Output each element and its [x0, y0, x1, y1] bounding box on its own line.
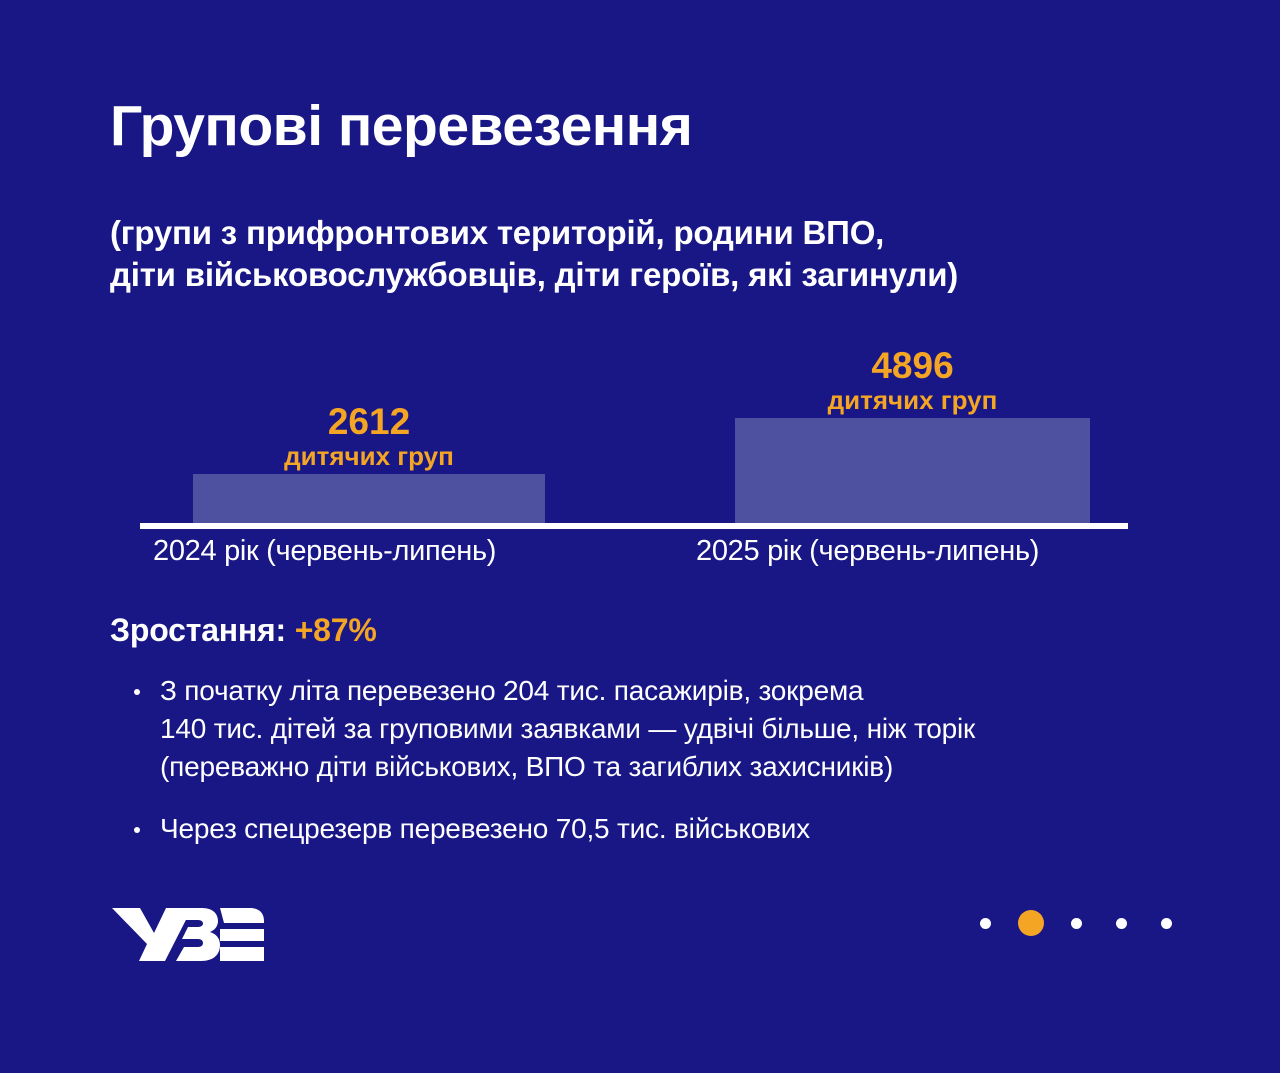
pagination-dot-1[interactable]	[980, 918, 991, 929]
bar-2024	[193, 474, 545, 523]
bullet-list: З початку літа перевезено 204 тис. пасаж…	[130, 672, 1220, 848]
bar-label-2025: 4896 дитячих груп	[695, 347, 1130, 414]
list-item: З початку літа перевезено 204 тис. пасаж…	[130, 672, 1220, 786]
pagination-dot-4[interactable]	[1116, 918, 1127, 929]
growth-label: Зростання:	[110, 612, 286, 648]
uz-logo-icon	[110, 897, 266, 967]
chart-plot-area: 2612 дитячих груп 4896 дитячих груп	[140, 320, 1130, 523]
pagination-dot-2-active[interactable]	[1018, 910, 1044, 936]
bar-value-2025: 4896	[695, 347, 1130, 385]
bullet-2-line-1: Через спецрезерв перевезено 70,5 тис. ві…	[160, 810, 1220, 848]
x-axis-line	[140, 523, 1128, 529]
bullet-1-line-3: (переважно діти військових, ВПО та загиб…	[160, 748, 1220, 786]
bar-group-2025: 4896 дитячих груп	[735, 320, 1090, 523]
pagination-dot-3[interactable]	[1071, 918, 1082, 929]
bar-label-2024: 2612 дитячих груп	[153, 403, 585, 470]
bar-chart: 2612 дитячих груп 4896 дитячих груп 2024…	[140, 320, 1130, 585]
infographic-slide: Групові перевезення (групи з прифронтови…	[0, 0, 1280, 1073]
list-item: Через спецрезерв перевезено 70,5 тис. ві…	[130, 810, 1220, 848]
header-block: Групові перевезення (групи з прифронтови…	[110, 98, 1200, 295]
bar-2025	[735, 418, 1090, 523]
x-axis-labels: 2024 рік (червень-липень) 2025 рік (черв…	[140, 535, 1130, 580]
x-axis-tick-2025: 2025 рік (червень-липень)	[696, 535, 1039, 568]
growth-line: Зростання: +87%	[110, 612, 377, 649]
x-axis-tick-2024: 2024 рік (червень-липень)	[153, 535, 496, 568]
bar-unit-2025: дитячих груп	[695, 385, 1130, 414]
subtitle-line-2: діти військовослужбовців, діти героїв, я…	[110, 254, 1200, 296]
growth-value: +87%	[295, 612, 377, 648]
page-title: Групові перевезення	[110, 98, 1200, 155]
bullet-1-line-2: 140 тис. дітей за груповими заявками — у…	[160, 710, 1220, 748]
page-subtitle: (групи з прифронтових територій, родини …	[110, 155, 1200, 295]
bar-unit-2024: дитячих груп	[153, 441, 585, 470]
pagination-dot-5[interactable]	[1161, 918, 1172, 929]
bullet-1-line-1: З початку літа перевезено 204 тис. пасаж…	[160, 672, 1220, 710]
bar-value-2024: 2612	[153, 403, 585, 441]
pagination-dots[interactable]	[980, 908, 1172, 938]
bullet-dot-icon	[134, 689, 140, 695]
subtitle-line-1: (групи з прифронтових територій, родини …	[110, 212, 1200, 254]
bar-group-2024: 2612 дитячих груп	[193, 320, 545, 523]
bullet-dot-icon	[134, 827, 140, 833]
